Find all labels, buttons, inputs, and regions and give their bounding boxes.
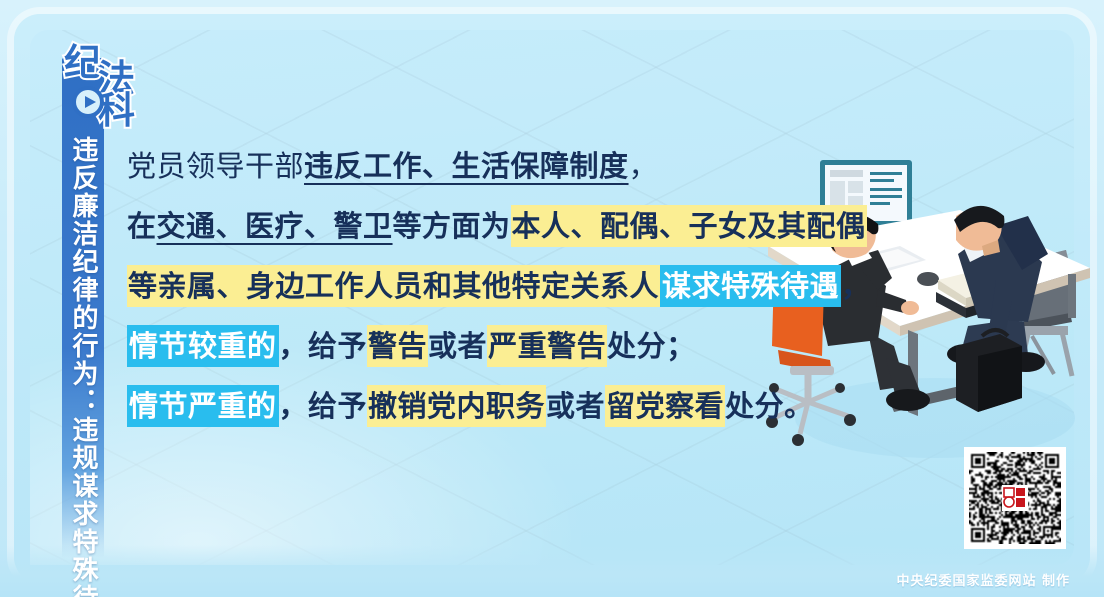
line5-seg4: 或者 bbox=[546, 389, 605, 423]
copy-line-2: 在交通、医疗、警卫等方面为本人、配偶、子女及其配偶 bbox=[127, 196, 827, 256]
line2-underlined: 交通、医疗、警卫 bbox=[157, 209, 393, 243]
line5-highlight-yellow-2: 留党察看 bbox=[605, 385, 725, 427]
copy-line-1: 党员领导干部违反工作、生活保障制度， bbox=[127, 136, 827, 196]
qr-center-logo bbox=[1002, 485, 1028, 511]
banner-title: 违反廉洁纪律的行为：违规谋求特殊待遇 bbox=[62, 136, 104, 597]
copy-line-5: 情节严重的，给予撤销党内职务或者留党察看处分。 bbox=[127, 376, 827, 436]
line4-highlight-yellow-1: 警告 bbox=[367, 325, 428, 367]
qr-code[interactable] bbox=[964, 447, 1066, 549]
line1-seg1: 党员领导干部 bbox=[127, 149, 304, 183]
line4-highlight-cyan: 情节较重的 bbox=[127, 325, 279, 367]
copy-line-3: 等亲属、身边工作人员和其他特定关系人谋求特殊待遇， bbox=[127, 256, 827, 316]
play-icon bbox=[72, 86, 104, 118]
copy-line-4: 情节较重的，给予警告或者严重警告处分； bbox=[127, 316, 827, 376]
line5-highlight-yellow-1: 撤销党内职务 bbox=[367, 385, 546, 427]
line3-highlight-cyan: 谋求特殊待遇 bbox=[660, 265, 841, 307]
qr-logo-mark bbox=[1003, 486, 1027, 510]
brand-logo: 纪 法 科 bbox=[50, 44, 154, 136]
line4-highlight-yellow-2: 严重警告 bbox=[487, 325, 607, 367]
body-copy: 党员领导干部违反工作、生活保障制度， 在交通、医疗、警卫等方面为本人、配偶、子女… bbox=[127, 136, 827, 436]
line4-seg2: ，给予 bbox=[279, 329, 368, 363]
line1-underlined: 违反工作、生活保障制度 bbox=[304, 149, 629, 183]
line5-seg2: ，给予 bbox=[279, 389, 368, 423]
mouse bbox=[917, 272, 939, 286]
line4-seg4: 或者 bbox=[428, 329, 487, 363]
line4-seg6: 处分； bbox=[607, 329, 696, 363]
line2-seg3: 等方面为 bbox=[393, 209, 511, 243]
line2-highlight-yellow: 本人、配偶、子女及其配偶 bbox=[511, 205, 867, 247]
line2-seg1: 在 bbox=[127, 209, 157, 243]
logo-char-ji: 纪 bbox=[64, 44, 101, 81]
line1-comma: ， bbox=[629, 149, 659, 183]
line5-seg6: 处分。 bbox=[725, 389, 814, 423]
line3-comma: ， bbox=[841, 269, 871, 303]
credit-text: 中央纪委国家监委网站 制作 bbox=[896, 570, 1070, 589]
line5-highlight-cyan: 情节严重的 bbox=[127, 385, 279, 427]
poster-canvas: 违反廉洁纪律的行为：违规谋求特殊待遇 纪 法 科 党员领导干部违反工作、生活保障… bbox=[0, 0, 1104, 597]
line3-highlight-yellow: 等亲属、身边工作人员和其他特定关系人 bbox=[127, 265, 660, 307]
